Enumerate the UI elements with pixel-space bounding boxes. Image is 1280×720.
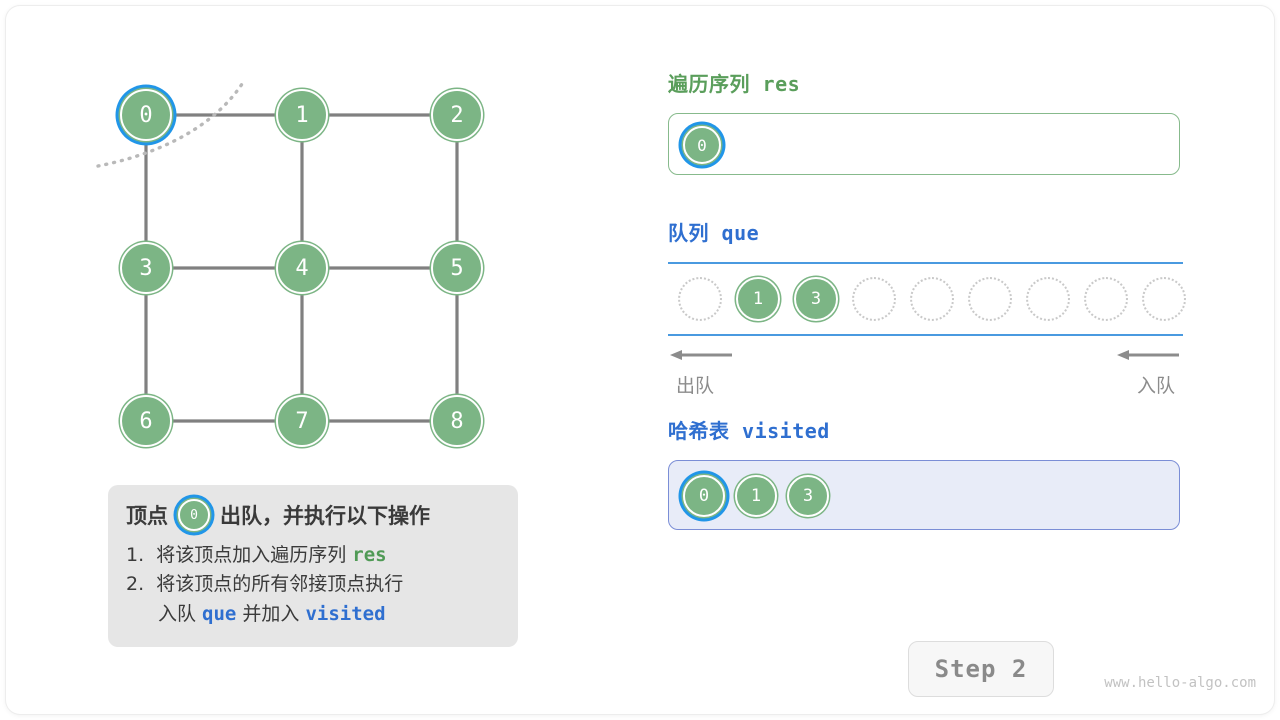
step2-text-b: 入队	[158, 603, 202, 625]
queue-slot-3	[852, 277, 896, 321]
graph-node-2[interactable]: 2	[431, 89, 483, 141]
queue-track: 13	[668, 262, 1183, 335]
dequeue-arrow-icon	[670, 349, 734, 361]
res-box: 0	[668, 113, 1180, 175]
caption-node-badge: 0	[178, 499, 210, 531]
queue-title: 队列 que	[668, 217, 1188, 246]
step1-number: 1.	[126, 544, 144, 566]
dequeue-label: 出队	[676, 371, 714, 398]
queue-slot-8	[1142, 277, 1186, 321]
queue-slot-6	[1026, 277, 1070, 321]
caption-step-1: 1. 将该顶点加入遍历序列 res	[126, 541, 500, 570]
enqueue-label: 入队	[1137, 371, 1175, 398]
visited-box: 013	[668, 460, 1180, 530]
caption-head-prefix: 顶点	[126, 500, 168, 530]
queue-slot-5	[968, 277, 1012, 321]
graph-node-6[interactable]: 6	[120, 395, 172, 447]
queue-slot-7	[1084, 277, 1128, 321]
step2-number: 2.	[126, 573, 144, 595]
queue-slot-0	[678, 277, 722, 321]
visited-item-0: 0	[683, 475, 725, 517]
visited-items: 013	[683, 461, 829, 531]
caption-steps: 1. 将该顶点加入遍历序列 res 2. 将该顶点的所有邻接顶点执行入队 que…	[126, 541, 500, 629]
enqueue-arrow-icon	[1117, 349, 1181, 361]
queue-slot-1: 1	[736, 277, 780, 321]
visited-title: 哈希表 visited	[668, 415, 1188, 444]
step-badge: Step 2	[908, 641, 1054, 697]
caption-step-2: 2. 将该顶点的所有邻接顶点执行入队 que 并加入 visited	[126, 570, 500, 629]
queue-slot-2: 3	[794, 277, 838, 321]
graph-node-3[interactable]: 3	[120, 242, 172, 294]
visited-item-1: 1	[735, 475, 777, 517]
step2-text-c: 并加入	[236, 603, 305, 625]
step1-text: 将该顶点加入遍历序列	[156, 544, 352, 566]
caption-heading: 顶点 0 出队，并执行以下操作	[126, 499, 500, 531]
visited-item-2: 3	[787, 475, 829, 517]
right-column: 遍历序列 res 0 队列 que 13 出队 入队 哈希表 visited	[668, 68, 1188, 530]
queue-slots: 13	[678, 262, 1186, 335]
graph-node-8[interactable]: 8	[431, 395, 483, 447]
graph-node-0[interactable]: 0	[120, 89, 172, 141]
res-items: 0	[683, 114, 721, 176]
step2-code-que: que	[202, 603, 236, 625]
res-title: 遍历序列 res	[668, 68, 1188, 97]
slide-canvas: 012345678 遍历序列 res 0 队列 que 13 出队 入队	[0, 0, 1280, 720]
queue-slot-4	[910, 277, 954, 321]
caption-head-suffix: 出队，并执行以下操作	[220, 500, 430, 530]
step2-text-a: 将该顶点的所有邻接顶点执行	[156, 573, 403, 595]
step2-code-visited: visited	[305, 603, 385, 625]
caption-box: 顶点 0 出队，并执行以下操作 1. 将该顶点加入遍历序列 res 2. 将该顶…	[108, 485, 518, 647]
graph-panel: 012345678	[70, 40, 590, 480]
res-item-0: 0	[683, 126, 721, 164]
watermark: www.hello-algo.com	[1104, 675, 1256, 691]
step1-code-res: res	[352, 544, 386, 566]
graph-node-1[interactable]: 1	[276, 89, 328, 141]
queue-direction-row: 出队 入队	[668, 345, 1183, 401]
graph-node-5[interactable]: 5	[431, 242, 483, 294]
graph-node-4[interactable]: 4	[276, 242, 328, 294]
graph-node-7[interactable]: 7	[276, 395, 328, 447]
